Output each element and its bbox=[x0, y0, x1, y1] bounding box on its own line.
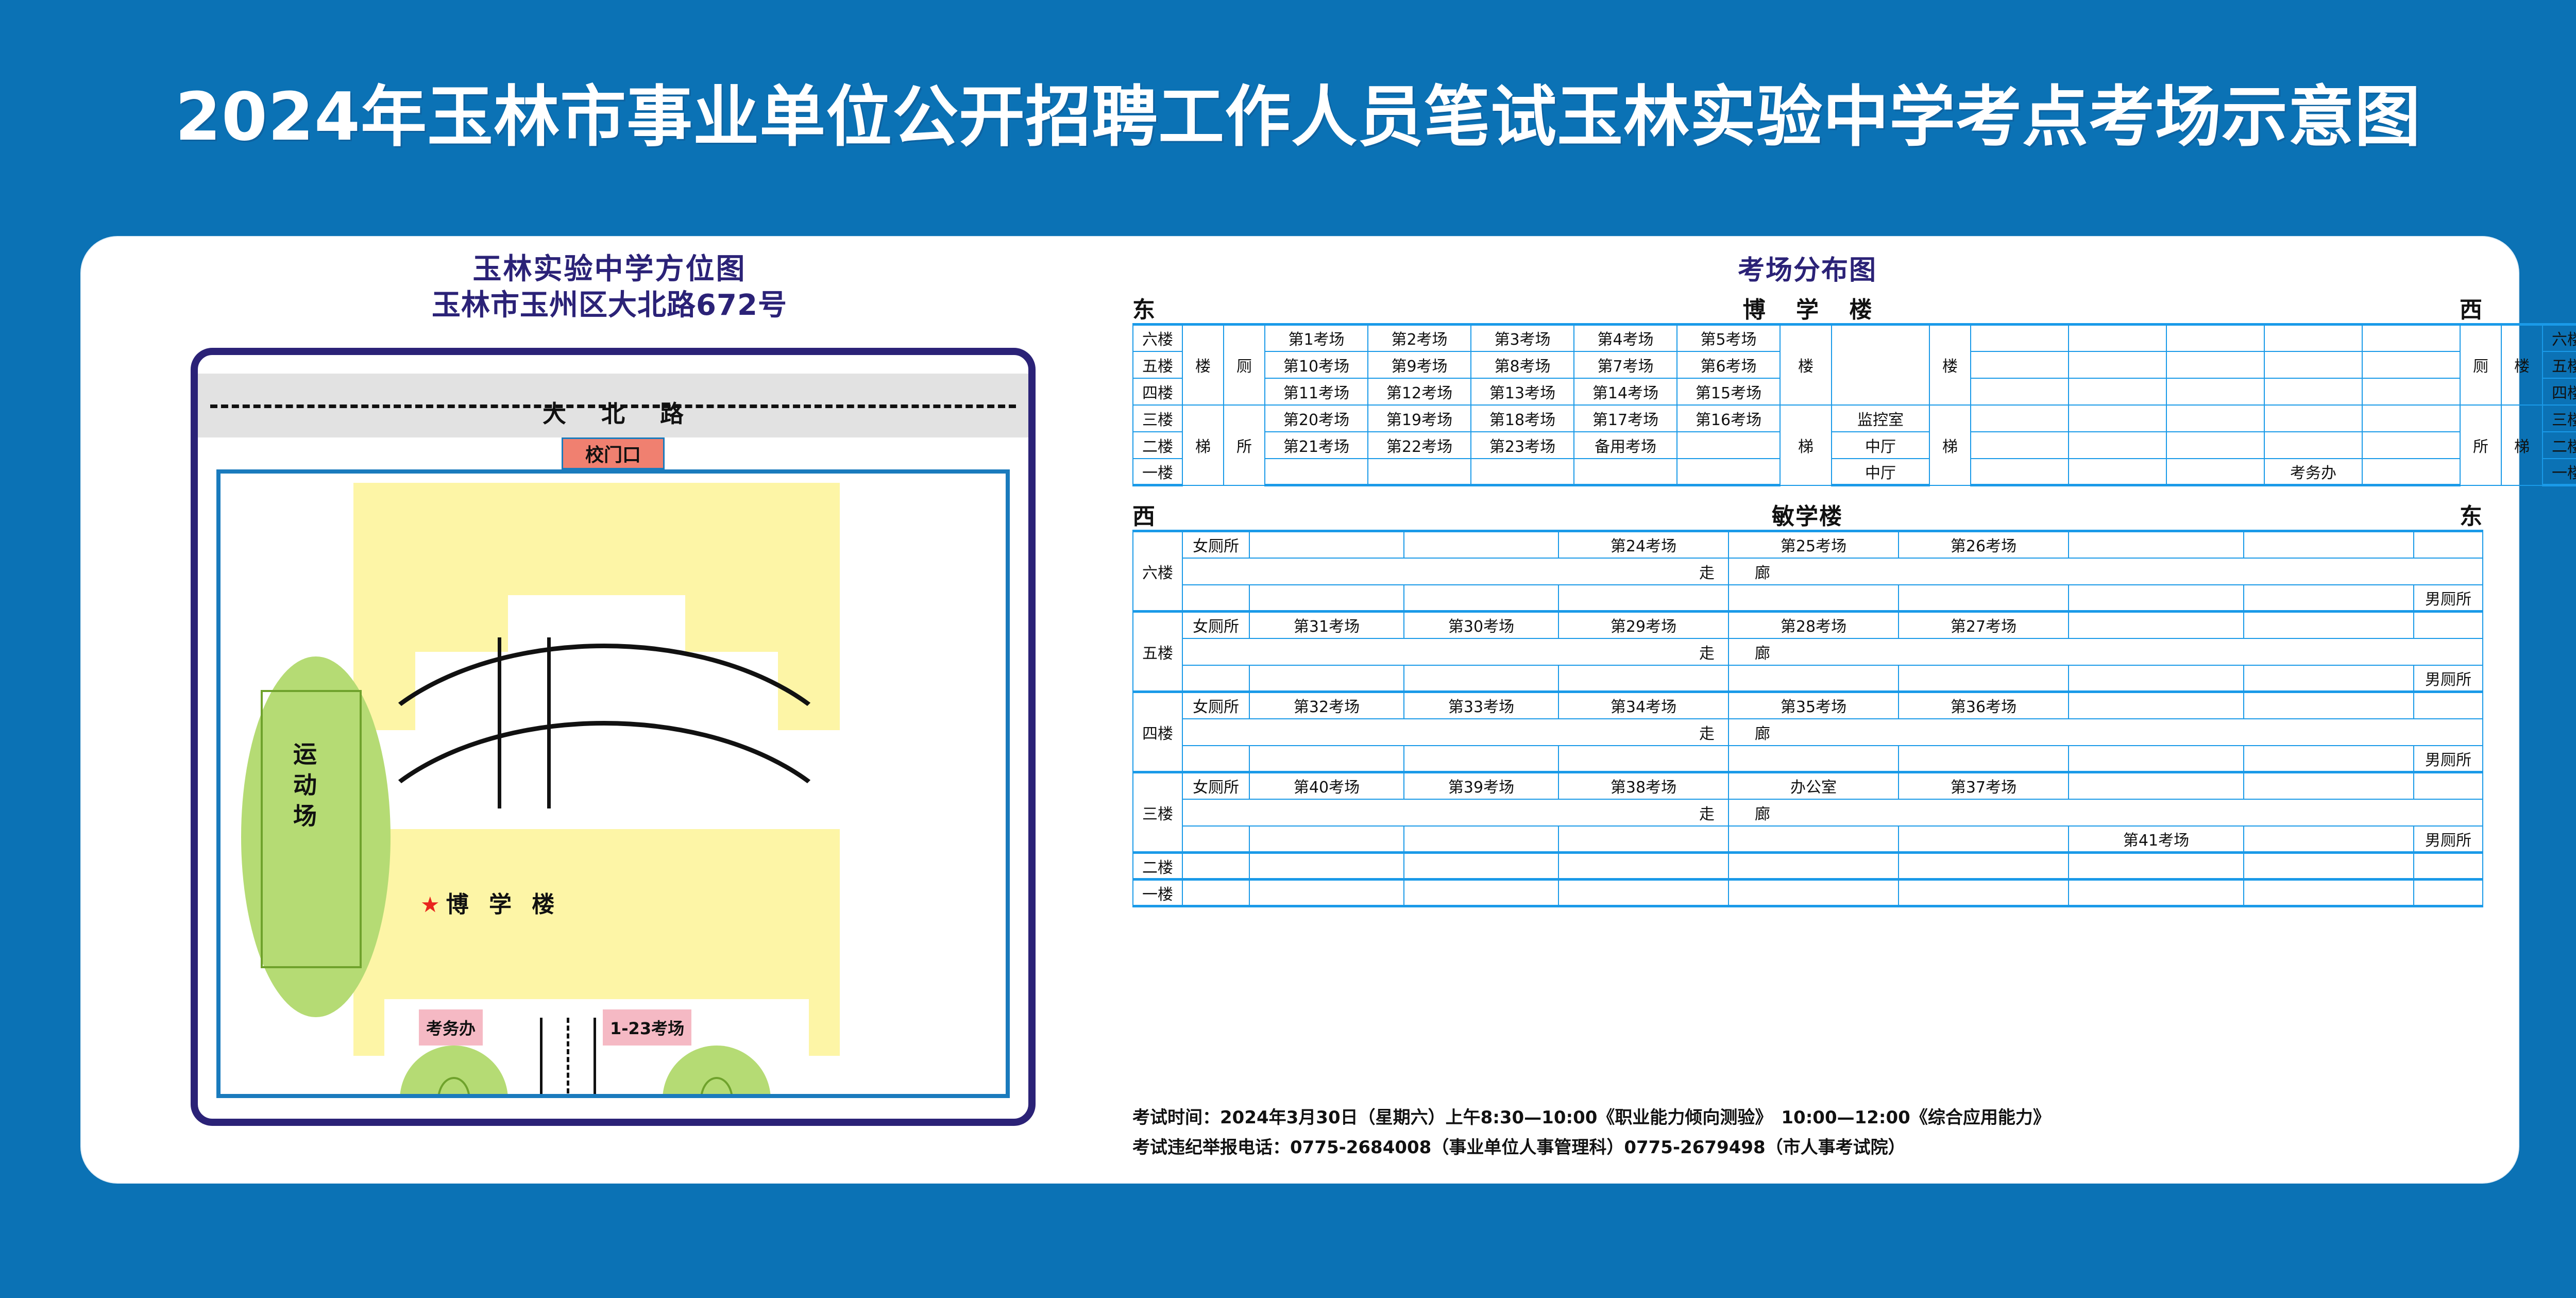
boxue-floor-right-6: 六楼 bbox=[2543, 325, 2576, 351]
minxue-cell: 第29考场 bbox=[1558, 612, 1728, 638]
minxue-cell bbox=[2069, 585, 2244, 612]
garden-oval-left bbox=[400, 1046, 508, 1098]
minxue-table: 六楼 女厕所 第24考场 第25考场 第26考场 走 廊 bbox=[1132, 530, 2483, 907]
boxue-right-cell bbox=[2069, 432, 2166, 459]
minxue-corridor-a-6: 走 bbox=[1182, 558, 1728, 585]
boxue-cell: 第1考场 bbox=[1265, 325, 1368, 351]
minxue-cell: 第34考场 bbox=[1558, 692, 1728, 719]
minxue-cell bbox=[2414, 853, 2483, 880]
boxue-right-cell bbox=[2264, 405, 2362, 432]
banner: 2024年玉林市事业单位公开招聘工作人员笔试玉林实验中学考点考场示意图 bbox=[0, 57, 2576, 165]
minxue-cell bbox=[1728, 853, 1899, 880]
boxue-cell: 第12考场 bbox=[1368, 378, 1471, 405]
boxue-right-cell bbox=[1971, 378, 2069, 405]
boxue-cell bbox=[1574, 459, 1677, 485]
table-row: 二楼 bbox=[1133, 853, 2483, 880]
section-title: 考场分布图 bbox=[1132, 248, 2482, 287]
boxue-table: 六楼 楼 厕 第1考场 第2考场 第3考场 第4考场 第5考场 楼 楼 bbox=[1132, 323, 2576, 486]
road-band: 大 北 路 bbox=[198, 374, 1028, 437]
boxue-floor-left-4: 四楼 bbox=[1133, 378, 1182, 405]
campus-road-right-edge bbox=[594, 1018, 596, 1098]
minxue-cell bbox=[1249, 853, 1404, 880]
boxue-cell bbox=[1677, 432, 1780, 459]
building-boxue-label: ★博 学 楼 bbox=[420, 886, 561, 919]
minxue-cell: 第40考场 bbox=[1249, 772, 1404, 799]
table-row: 男厕所 bbox=[1133, 746, 2483, 772]
boxue-right-cell bbox=[2362, 432, 2460, 459]
minxue-cell bbox=[2414, 692, 2483, 719]
minxue-cell bbox=[1182, 585, 1249, 612]
minxue-dir-right: 东 bbox=[2460, 498, 2482, 531]
campus-area: ★博 学 楼 运动场 敏学楼 bbox=[216, 469, 1010, 1098]
minxue-cell: 第33考场 bbox=[1404, 692, 1558, 719]
boxue-monitor-room: 监控室 bbox=[1832, 405, 1929, 432]
boxue-floor-left-3: 三楼 bbox=[1133, 405, 1182, 432]
sports-field-label: 运动场 bbox=[286, 741, 320, 834]
building-boxue-wing-right bbox=[809, 999, 840, 1056]
table-row: 四楼 女厕所 第32考场 第33考场 第34考场 第35考场 第36考场 bbox=[1133, 692, 2483, 719]
minxue-cell bbox=[2244, 665, 2414, 692]
minxue-cell bbox=[2414, 612, 2483, 638]
minxue-floor-3: 三楼 bbox=[1133, 772, 1182, 853]
minxue-cell bbox=[1728, 826, 1899, 853]
table-row: 一楼 中厅 考务办 一楼 bbox=[1133, 459, 2576, 485]
minxue-cell bbox=[1728, 746, 1899, 772]
boxue-cell: 第7考场 bbox=[1574, 351, 1677, 378]
minxue-cell bbox=[1728, 585, 1899, 612]
minxue-cell bbox=[2244, 612, 2414, 638]
map-heading-line1: 玉林实验中学方位图 bbox=[112, 251, 1107, 288]
building-block-top-ledge-right bbox=[685, 595, 840, 652]
minxue-cell bbox=[1404, 826, 1558, 853]
boxue-stair-right-top: 楼 bbox=[2501, 325, 2543, 405]
minxue-cell bbox=[1182, 746, 1249, 772]
minxue-cell bbox=[2069, 772, 2244, 799]
minxue-cell bbox=[2069, 612, 2244, 638]
table-row: 第41考场 男厕所 bbox=[1133, 826, 2483, 853]
minxue-cell bbox=[1404, 880, 1558, 906]
minxue-floor-6: 六楼 bbox=[1133, 531, 1182, 612]
boxue-direction-bar: 东 博 学 楼 西 bbox=[1132, 291, 2482, 323]
minxue-cell bbox=[2244, 880, 2414, 906]
minxue-cell: 第25考场 bbox=[1728, 531, 1899, 558]
minxue-cell bbox=[2069, 692, 2244, 719]
minxue-cell bbox=[1558, 585, 1728, 612]
boxue-cell: 第11考场 bbox=[1265, 378, 1368, 405]
boxue-right-cell bbox=[2264, 432, 2362, 459]
minxue-cell: 第32考场 bbox=[1249, 692, 1404, 719]
minxue-cell bbox=[2069, 665, 2244, 692]
table-row: 三楼 梯 所 第20考场 第19考场 第18考场 第17考场 第16考场 梯 监… bbox=[1133, 405, 2576, 432]
boxue-right-cell bbox=[2166, 325, 2264, 351]
boxue-cell: 第9考场 bbox=[1368, 351, 1471, 378]
boxue-right-cell bbox=[2362, 459, 2460, 485]
boxue-stair-left-bottom: 梯 bbox=[1182, 405, 1224, 485]
boxue-right-cell bbox=[2362, 378, 2460, 405]
boxue-right-cell bbox=[2166, 351, 2264, 378]
school-gate-marker: 校门口 bbox=[562, 437, 665, 469]
minxue-cell bbox=[2069, 853, 2244, 880]
minxue-cell: 女厕所 bbox=[1182, 692, 1249, 719]
boxue-toilet-left-bottom: 所 bbox=[1224, 405, 1265, 485]
boxue-stair-mid-top: 楼 bbox=[1780, 325, 1832, 405]
star-icon-boxue: ★ bbox=[420, 892, 446, 917]
boxue-right-cell bbox=[2264, 351, 2362, 378]
minxue-cell bbox=[2414, 531, 2483, 558]
boxue-stair-left-top: 楼 bbox=[1182, 325, 1224, 405]
boxue-stair-mid2-bottom: 梯 bbox=[1929, 405, 1971, 485]
minxue-cell bbox=[1249, 880, 1404, 906]
boxue-cell: 第19考场 bbox=[1368, 405, 1471, 432]
poster-root: 2024年玉林市事业单位公开招聘工作人员笔试玉林实验中学考点考场示意图 玉林实验… bbox=[0, 0, 2576, 1298]
minxue-cell: 女厕所 bbox=[1182, 531, 1249, 558]
boxue-cell: 第6考场 bbox=[1677, 351, 1780, 378]
table-row: 六楼 女厕所 第24考场 第25考场 第26考场 bbox=[1133, 531, 2483, 558]
boxue-right-cell bbox=[2166, 459, 2264, 485]
table-row: 男厕所 bbox=[1133, 585, 2483, 612]
footer-exam-time: 考试时间：2024年3月30日（星期六）上午8:30—10:00《职业能力倾向测… bbox=[1132, 1103, 2523, 1133]
seating-charts: 考场分布图 东 博 学 楼 西 六楼 楼 厕 bbox=[1132, 248, 2482, 907]
minxue-cell bbox=[1182, 880, 1249, 906]
boxue-right-cell bbox=[2362, 351, 2460, 378]
table-row: 走 廊 bbox=[1133, 799, 2483, 826]
boxue-right-cell bbox=[2166, 432, 2264, 459]
minxue-cell bbox=[2069, 531, 2244, 558]
boxue-building-name: 博 学 楼 bbox=[1732, 291, 1884, 324]
table-row: 走 廊 bbox=[1133, 638, 2483, 665]
boxue-dir-left: 东 bbox=[1132, 291, 1155, 324]
boxue-cell: 第16考场 bbox=[1677, 405, 1780, 432]
minxue-cell: 第31考场 bbox=[1249, 612, 1404, 638]
minxue-male-toilet-3: 男厕所 bbox=[2414, 826, 2483, 853]
minxue-floor-4: 四楼 bbox=[1133, 692, 1182, 772]
minxue-cell bbox=[2244, 531, 2414, 558]
table-row: 男厕所 bbox=[1133, 665, 2483, 692]
boxue-right-cell bbox=[2264, 325, 2362, 351]
boxue-cell: 第21考场 bbox=[1265, 432, 1368, 459]
minxue-cell bbox=[2414, 880, 2483, 906]
boxue-floor-left-1: 一楼 bbox=[1133, 459, 1182, 485]
boxue-right-cell bbox=[1971, 351, 2069, 378]
callout-rooms-1-23: 1-23考场 bbox=[603, 1009, 691, 1046]
campus-map-frame: 大 北 路 校门口 ★博 学 楼 bbox=[191, 348, 1036, 1126]
minxue-floor-2: 二楼 bbox=[1133, 853, 1182, 880]
minxue-cell bbox=[1899, 826, 2069, 853]
boxue-stair-right-bottom: 梯 bbox=[2501, 405, 2543, 485]
minxue-room-41: 第41考场 bbox=[2069, 826, 2244, 853]
minxue-cell: 女厕所 bbox=[1182, 612, 1249, 638]
boxue-stair-mid2-top: 楼 bbox=[1929, 325, 1971, 405]
building-block-top-ledge-left bbox=[353, 595, 508, 652]
minxue-cell bbox=[1182, 853, 1249, 880]
boxue-cell bbox=[1677, 459, 1780, 485]
track-divider-left bbox=[498, 637, 501, 808]
minxue-cell bbox=[1249, 531, 1404, 558]
boxue-center-hall-1: 中厅 bbox=[1832, 459, 1929, 485]
boxue-right-cell bbox=[1971, 432, 2069, 459]
minxue-cell bbox=[1558, 665, 1728, 692]
boxue-cell: 第13考场 bbox=[1471, 378, 1574, 405]
boxue-dir-right: 西 bbox=[2460, 291, 2482, 324]
minxue-cell: 第35考场 bbox=[1728, 692, 1899, 719]
minxue-cell bbox=[1899, 746, 2069, 772]
minxue-cell bbox=[1404, 585, 1558, 612]
boxue-cell bbox=[1368, 459, 1471, 485]
boxue-floor-right-1: 一楼 bbox=[2543, 459, 2576, 485]
minxue-floor-1: 一楼 bbox=[1133, 880, 1182, 906]
boxue-stair-mid-bottom: 梯 bbox=[1780, 405, 1832, 485]
boxue-floor-right-3: 三楼 bbox=[2543, 405, 2576, 432]
minxue-cell bbox=[1404, 665, 1558, 692]
minxue-male-toilet-5: 男厕所 bbox=[2414, 665, 2483, 692]
boxue-cell: 第20考场 bbox=[1265, 405, 1368, 432]
table-row: 走 廊 bbox=[1133, 558, 2483, 585]
boxue-toilet-right-bottom: 所 bbox=[2460, 405, 2501, 485]
banner-title: 2024年玉林市事业单位公开招聘工作人员笔试玉林实验中学考点考场示意图 bbox=[175, 63, 2421, 159]
boxue-right-cell bbox=[1971, 325, 2069, 351]
minxue-cell: 第28考场 bbox=[1728, 612, 1899, 638]
boxue-cell: 第17考场 bbox=[1574, 405, 1677, 432]
boxue-right-cell bbox=[2069, 351, 2166, 378]
minxue-cell bbox=[2244, 585, 2414, 612]
minxue-cell bbox=[1404, 531, 1558, 558]
boxue-center-col bbox=[1832, 325, 1929, 405]
minxue-corridor-b-3: 廊 bbox=[1728, 799, 2483, 826]
building-boxue-text: 博 学 楼 bbox=[446, 891, 561, 918]
content-card: 玉林实验中学方位图 玉林市玉州区大北路672号 大 北 路 校门口 bbox=[81, 237, 2518, 1183]
boxue-right-cell bbox=[2069, 405, 2166, 432]
campus-road-center-dash-icon bbox=[567, 1018, 569, 1098]
minxue-building-name: 敏学楼 bbox=[1772, 498, 1843, 531]
boxue-cell: 第22考场 bbox=[1368, 432, 1471, 459]
minxue-corridor-a-3: 走 bbox=[1182, 799, 1728, 826]
minxue-male-toilet-6: 男厕所 bbox=[2414, 585, 2483, 612]
boxue-floor-left-6: 六楼 bbox=[1133, 325, 1182, 351]
minxue-direction-bar: 西 敏学楼 东 bbox=[1132, 498, 2482, 530]
boxue-cell: 第3考场 bbox=[1471, 325, 1574, 351]
boxue-floor-left-5: 五楼 bbox=[1133, 351, 1182, 378]
boxue-right-cell bbox=[2166, 405, 2264, 432]
minxue-cell bbox=[1404, 746, 1558, 772]
minxue-cell bbox=[2069, 746, 2244, 772]
minxue-cell bbox=[1728, 880, 1899, 906]
boxue-floor-right-4: 四楼 bbox=[2543, 378, 2576, 405]
minxue-cell bbox=[1899, 585, 2069, 612]
boxue-cell: 第8考场 bbox=[1471, 351, 1574, 378]
minxue-cell bbox=[1249, 826, 1404, 853]
boxue-exam-office: 考务办 bbox=[2264, 459, 2362, 485]
minxue-corridor-b-4: 廊 bbox=[1728, 719, 2483, 746]
boxue-floor-left-2: 二楼 bbox=[1133, 432, 1182, 459]
minxue-office-3: 办公室 bbox=[1728, 772, 1899, 799]
track-divider-right bbox=[547, 637, 551, 808]
boxue-cell bbox=[1265, 459, 1368, 485]
minxue-cell bbox=[1558, 880, 1728, 906]
minxue-cell bbox=[1899, 665, 2069, 692]
table-row: 五楼 女厕所 第31考场 第30考场 第29考场 第28考场 第27考场 bbox=[1133, 612, 2483, 638]
minxue-cell bbox=[1249, 746, 1404, 772]
minxue-corridor-a-4: 走 bbox=[1182, 719, 1728, 746]
minxue-corridor-b-5: 廊 bbox=[1728, 638, 2483, 665]
building-boxue-wing-left bbox=[353, 999, 384, 1056]
boxue-toilet-right-top: 厕 bbox=[2460, 325, 2501, 405]
minxue-cell: 第38考场 bbox=[1558, 772, 1728, 799]
minxue-cell: 第39考场 bbox=[1404, 772, 1558, 799]
table-row: 二楼 第21考场 第22考场 第23考场 备用考场 中厅 二楼 bbox=[1133, 432, 2576, 459]
boxue-cell: 第18考场 bbox=[1471, 405, 1574, 432]
boxue-floor-right-2: 二楼 bbox=[2543, 432, 2576, 459]
minxue-corridor-b-6: 廊 bbox=[1728, 558, 2483, 585]
minxue-cell bbox=[2244, 746, 2414, 772]
boxue-cell: 第2考场 bbox=[1368, 325, 1471, 351]
minxue-cell bbox=[1404, 853, 1558, 880]
table-row: 三楼 女厕所 第40考场 第39考场 第38考场 办公室 第37考场 bbox=[1133, 772, 2483, 799]
boxue-right-cell bbox=[1971, 459, 2069, 485]
minxue-cell bbox=[2244, 853, 2414, 880]
road-label: 大 北 路 bbox=[198, 395, 1028, 429]
minxue-cell bbox=[1249, 665, 1404, 692]
boxue-right-cell bbox=[2166, 378, 2264, 405]
map-heading-line2: 玉林市玉州区大北路672号 bbox=[112, 288, 1107, 324]
table-row: 走 廊 bbox=[1133, 719, 2483, 746]
boxue-cell: 第10考场 bbox=[1265, 351, 1368, 378]
boxue-cell: 备用考场 bbox=[1574, 432, 1677, 459]
minxue-cell: 女厕所 bbox=[1182, 772, 1249, 799]
map-heading: 玉林实验中学方位图 玉林市玉州区大北路672号 bbox=[112, 251, 1107, 324]
boxue-floor-right-5: 五楼 bbox=[2543, 351, 2576, 378]
minxue-cell bbox=[1558, 746, 1728, 772]
minxue-cell bbox=[1249, 585, 1404, 612]
minxue-cell bbox=[2244, 692, 2414, 719]
minxue-dir-left: 西 bbox=[1132, 498, 1155, 531]
footer-report-phone: 考试违纪举报电话：0775-2684008（事业单位人事管理科）0775-267… bbox=[1132, 1133, 2523, 1162]
minxue-floor-5: 五楼 bbox=[1133, 612, 1182, 692]
table-row: 六楼 楼 厕 第1考场 第2考场 第3考场 第4考场 第5考场 楼 楼 bbox=[1133, 325, 2576, 351]
boxue-right-cell bbox=[1971, 405, 2069, 432]
boxue-cell: 第5考场 bbox=[1677, 325, 1780, 351]
minxue-cell bbox=[1558, 826, 1728, 853]
minxue-cell: 第26考场 bbox=[1899, 531, 2069, 558]
boxue-toilet-left-top: 厕 bbox=[1224, 325, 1265, 405]
minxue-cell: 第36考场 bbox=[1899, 692, 2069, 719]
minxue-cell bbox=[2244, 826, 2414, 853]
minxue-cell bbox=[1728, 665, 1899, 692]
minxue-cell bbox=[1899, 853, 2069, 880]
boxue-cell bbox=[1471, 459, 1574, 485]
boxue-right-cell bbox=[2264, 378, 2362, 405]
boxue-right-cell bbox=[2069, 459, 2166, 485]
table-row: 一楼 bbox=[1133, 880, 2483, 906]
minxue-cell bbox=[1182, 665, 1249, 692]
boxue-cell: 第23考场 bbox=[1471, 432, 1574, 459]
minxue-cell bbox=[2414, 772, 2483, 799]
boxue-right-cell bbox=[2069, 378, 2166, 405]
minxue-cell: 第30考场 bbox=[1404, 612, 1558, 638]
minxue-male-toilet-4: 男厕所 bbox=[2414, 746, 2483, 772]
boxue-right-cell bbox=[2362, 325, 2460, 351]
boxue-right-cell bbox=[2069, 325, 2166, 351]
minxue-cell bbox=[1558, 853, 1728, 880]
boxue-cell: 第14考场 bbox=[1574, 378, 1677, 405]
minxue-corridor-a-5: 走 bbox=[1182, 638, 1728, 665]
minxue-cell bbox=[2244, 772, 2414, 799]
minxue-cell bbox=[2069, 880, 2244, 906]
boxue-cell: 第15考场 bbox=[1677, 378, 1780, 405]
building-block-top-bar bbox=[353, 483, 840, 595]
garden-oval-right bbox=[663, 1046, 771, 1098]
boxue-center-hall-2: 中厅 bbox=[1832, 432, 1929, 459]
minxue-cell: 第37考场 bbox=[1899, 772, 2069, 799]
footer-notes: 考试时间：2024年3月30日（星期六）上午8:30—10:00《职业能力倾向测… bbox=[1132, 1103, 2523, 1162]
callout-kaowuban: 考务办 bbox=[419, 1009, 483, 1046]
minxue-cell: 第24考场 bbox=[1558, 531, 1728, 558]
minxue-cell bbox=[1182, 826, 1249, 853]
boxue-right-cell bbox=[2362, 405, 2460, 432]
minxue-cell: 第27考场 bbox=[1899, 612, 2069, 638]
minxue-cell bbox=[1899, 880, 2069, 906]
boxue-cell: 第4考场 bbox=[1574, 325, 1677, 351]
campus-road-left-edge bbox=[540, 1018, 543, 1098]
